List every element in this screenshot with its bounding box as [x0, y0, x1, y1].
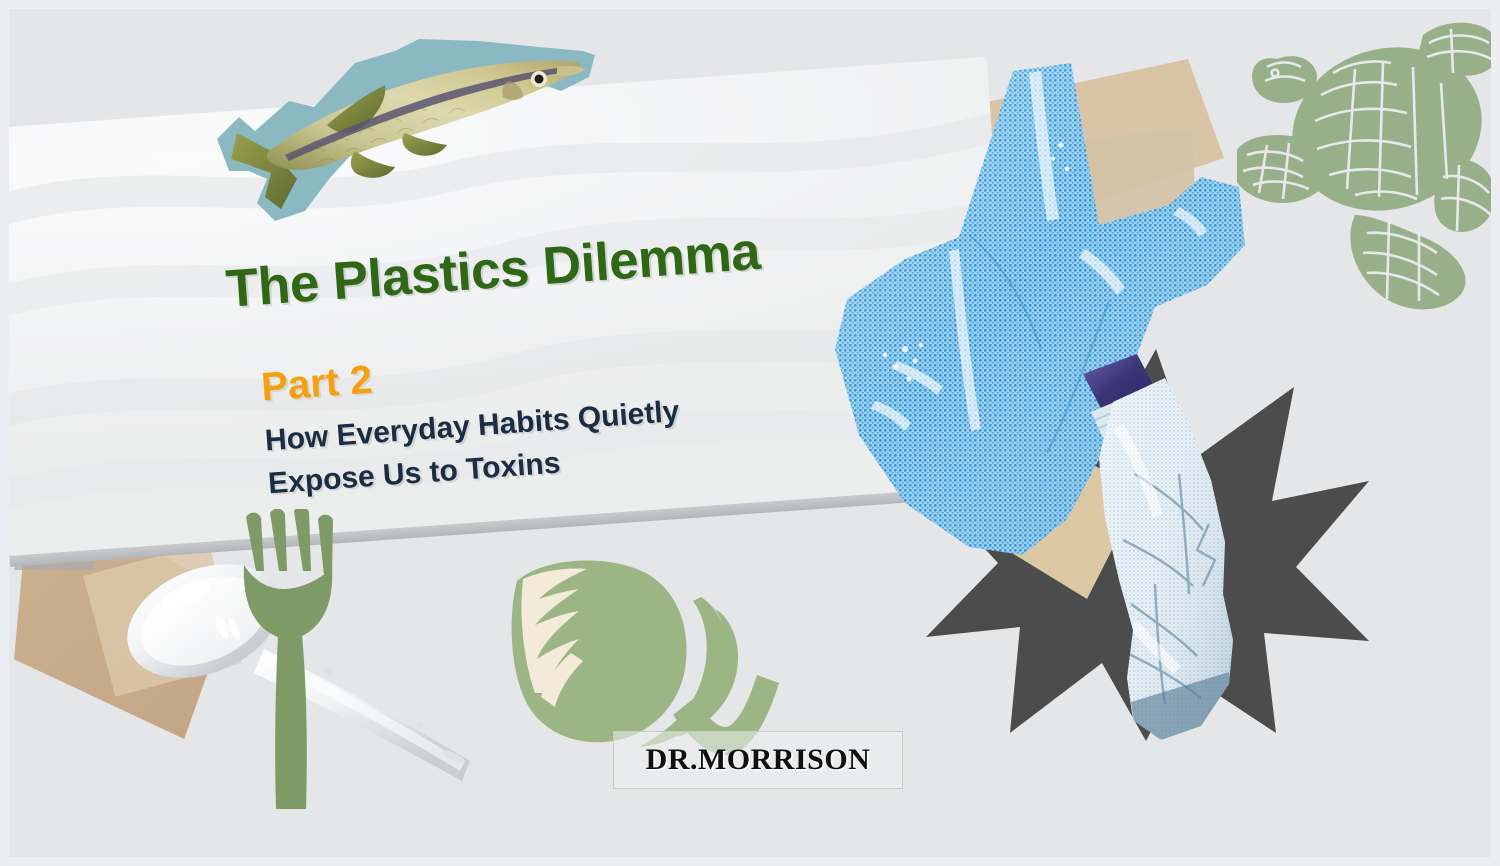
green-jar-icon [479, 557, 809, 757]
author-name: DR.MORRISON [646, 743, 871, 777]
plastic-bottle-icon [1069, 354, 1299, 749]
plastic-fork-icon [234, 509, 344, 819]
author-badge: DR.MORRISON [613, 731, 903, 789]
poster-canvas: The Plastics Dilemma Part 2 How Everyday… [9, 9, 1491, 857]
fish-sticker-icon [209, 21, 601, 229]
headline-block: The Plastics Dilemma Part 2 How Everyday… [224, 209, 940, 508]
poster-stage: The Plastics Dilemma Part 2 How Everyday… [0, 0, 1500, 866]
